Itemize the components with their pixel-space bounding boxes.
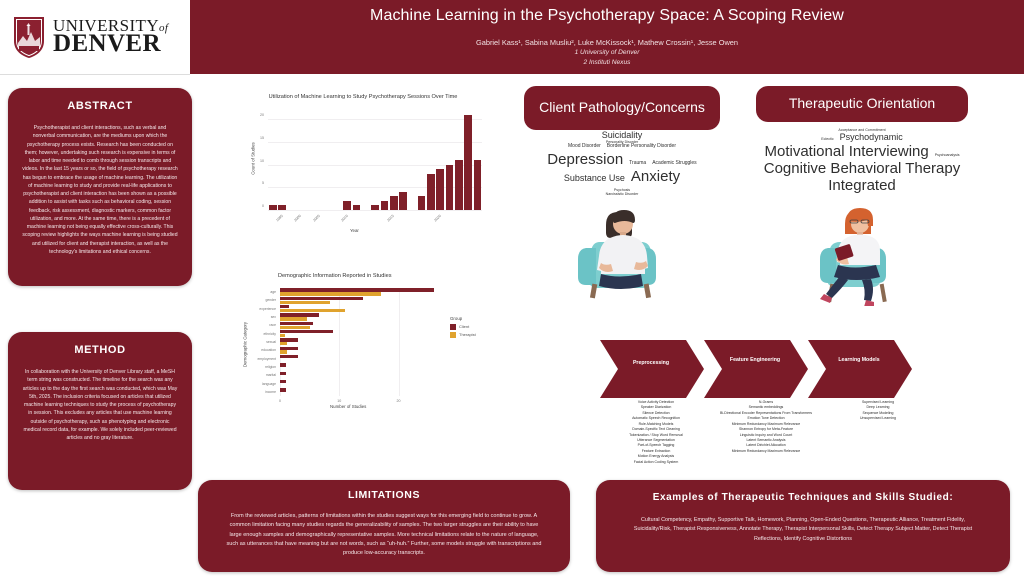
- therapist-illustration: [566, 176, 706, 305]
- bar: [280, 372, 286, 375]
- bar: [390, 196, 398, 210]
- du-shield-icon: [12, 15, 46, 59]
- category-label: age: [234, 290, 276, 294]
- cloud-word: Suicidality: [516, 130, 728, 140]
- bar: [280, 388, 286, 391]
- legend-label: Therapist: [459, 332, 476, 337]
- cloud-word: Borderline Personality Disorder: [607, 144, 676, 150]
- client-illustration: [800, 190, 920, 311]
- x-tick-label: 2020: [433, 214, 441, 222]
- header-divider: [0, 74, 190, 75]
- category-label: religion: [234, 365, 276, 369]
- y-tick-label: 20: [252, 113, 264, 117]
- flow-step-label-preprocessing: Preprocessing: [616, 360, 686, 367]
- legend-item: Client: [450, 324, 476, 330]
- x-tick-label: 0: [274, 399, 286, 403]
- cloud-word: Trauma: [629, 161, 646, 167]
- bar: [280, 350, 287, 353]
- method-panel: METHOD In collaboration with the Univers…: [8, 332, 192, 490]
- ml-pipeline-flow: Preprocessing Feature Engineering Learni…: [600, 340, 912, 398]
- bar: [353, 205, 361, 210]
- x-tick-label: 2005: [312, 214, 320, 222]
- bar: [455, 160, 463, 210]
- grid-line: [268, 119, 482, 120]
- flow-items-preprocessing: Voice Activity Detection Speaker Diariza…: [596, 400, 716, 465]
- method-heading: METHOD: [8, 344, 192, 356]
- chart2-x-axis-label: Number of Studies: [330, 404, 366, 409]
- bar: [381, 201, 389, 210]
- bar: [269, 205, 277, 210]
- therapeutic-orientation-header: Therapeutic Orientation: [756, 86, 968, 122]
- category-label: income: [234, 390, 276, 394]
- bar: [280, 380, 286, 383]
- logo-wordmark: UNIVERSITYof DENVER: [53, 18, 168, 55]
- flow-items-feature-engineering: N-Grams Semantic embeddings Bi-Direction…: [706, 400, 826, 454]
- category-label: experience: [234, 307, 276, 311]
- x-tick-label: 2000: [294, 214, 302, 222]
- bar: [280, 355, 298, 358]
- therapeutic-orientation-wordcloud: Acceptance and Commitment Eclectic Psych…: [748, 128, 976, 194]
- abstract-panel: ABSTRACT Psychotherapist and client inte…: [8, 88, 192, 286]
- bar: [280, 305, 289, 308]
- techniques-panel: Examples of Therapeutic Techniques and S…: [596, 480, 1010, 572]
- chart1-y-axis-label: Count of Studies: [251, 129, 256, 189]
- bar: [418, 196, 426, 210]
- bar: [280, 309, 345, 312]
- techniques-text: Cultural Competency, Empathy, Supportive…: [596, 516, 1010, 544]
- bar: [280, 338, 298, 341]
- chart2-y-axis-label: Demographic Category: [243, 314, 248, 376]
- bar: [280, 330, 333, 333]
- category-label: education: [234, 348, 276, 352]
- y-tick-label: 0: [252, 204, 264, 208]
- category-label: gender: [234, 298, 276, 302]
- legend-swatch: [450, 324, 456, 330]
- university-logo: UNIVERSITYof DENVER: [0, 0, 190, 74]
- utilization-over-time-chart: Utilization of Machine Learning to Study…: [232, 88, 494, 250]
- category-label: sexual: [234, 340, 276, 344]
- category-label: employment: [234, 357, 276, 361]
- bar: [278, 205, 286, 210]
- x-tick-label: 2015: [387, 214, 395, 222]
- techniques-heading: Examples of Therapeutic Techniques and S…: [596, 492, 1010, 503]
- flow-items-learning-models: Supervised Learning Deep Learning Sequen…: [818, 400, 938, 422]
- bar: [436, 169, 444, 210]
- bar: [427, 174, 435, 210]
- chart2-title: Demographic Information Reported in Stud…: [222, 273, 510, 279]
- flow-step-label-learning-models: Learning Models: [824, 357, 894, 364]
- limitations-text: From the reviewed articles, patterns of …: [198, 512, 570, 559]
- bar: [280, 288, 434, 291]
- limitations-panel: LIMITATIONS From the reviewed articles, …: [198, 480, 570, 572]
- chart2-legend: Group ClientTherapist: [450, 316, 476, 340]
- legend-title: Group: [450, 316, 476, 321]
- x-tick-label: 20: [393, 399, 405, 403]
- category-label: race: [234, 323, 276, 327]
- bar: [464, 115, 472, 210]
- bar: [280, 363, 286, 366]
- grid-line: [399, 288, 400, 396]
- bar: [399, 192, 407, 210]
- flow-step-label-feature-engineering: Feature Engineering: [720, 357, 790, 364]
- chart1-x-axis-label: Year: [350, 228, 359, 233]
- logo-line2: DENVER: [53, 32, 168, 56]
- cloud-word: Cognitive Behavioral Therapy: [748, 161, 976, 178]
- bar: [280, 317, 307, 320]
- cloud-word: Psychodynamic: [840, 132, 903, 142]
- page-title: Machine Learning in the Psychotherapy Sp…: [370, 7, 844, 25]
- cloud-word: Eclectic: [821, 137, 833, 141]
- cloud-word: Mood Disorder: [568, 144, 601, 150]
- bar: [280, 342, 287, 345]
- bar: [474, 160, 482, 210]
- bar: [280, 334, 285, 337]
- legend-swatch: [450, 332, 456, 338]
- bar: [371, 205, 379, 210]
- cloud-word: Motivational Interviewing: [764, 144, 928, 161]
- bar: [280, 301, 330, 304]
- category-label: marital: [234, 373, 276, 377]
- bar: [280, 292, 381, 295]
- legend-label: Client: [459, 324, 469, 329]
- bar: [343, 201, 351, 210]
- grid-line: [268, 142, 482, 143]
- bar: [280, 297, 363, 300]
- chart1-title: Utilization of Machine Learning to Study…: [232, 94, 494, 100]
- bar: [280, 322, 313, 325]
- author-list: Gabriel Kass¹, Sabina Musliu², Luke McKi…: [476, 37, 738, 48]
- method-text: In collaboration with the University of …: [8, 368, 192, 442]
- affiliation-1: 1 University of Denver: [575, 48, 640, 58]
- grid-line: [339, 288, 340, 396]
- bar: [280, 313, 319, 316]
- legend-item: Therapist: [450, 332, 476, 338]
- cloud-word: Academic Struggles: [652, 161, 696, 167]
- bar: [446, 165, 454, 210]
- x-tick-label: 2010: [340, 214, 348, 222]
- affiliation-2: 2 Instituti Nexus: [584, 58, 631, 68]
- grid-line: [268, 210, 482, 211]
- category-label: ethnicity: [234, 332, 276, 336]
- x-tick-label: 1995: [275, 214, 283, 222]
- chart1-plot-area: [268, 110, 482, 210]
- cloud-word: Psychoanalysis: [935, 153, 960, 157]
- abstract-text: Psychotherapist and client interactions,…: [8, 124, 192, 256]
- chart2-plot-area: [280, 288, 440, 396]
- bar: [280, 347, 298, 350]
- x-tick-label: 10: [333, 399, 345, 403]
- poster-header: Machine Learning in the Psychotherapy Sp…: [190, 0, 1024, 74]
- cloud-word: Depression: [547, 152, 623, 169]
- client-pathology-header: Client Pathology/Concerns: [524, 86, 720, 130]
- category-label: sex: [234, 315, 276, 319]
- abstract-heading: ABSTRACT: [8, 100, 192, 112]
- limitations-heading: LIMITATIONS: [198, 489, 570, 501]
- category-label: language: [234, 382, 276, 386]
- poster-canvas: UNIVERSITYof DENVER Machine Learning in …: [0, 0, 1024, 576]
- bar: [280, 326, 310, 329]
- demographic-information-chart: Demographic Information Reported in Stud…: [222, 268, 510, 418]
